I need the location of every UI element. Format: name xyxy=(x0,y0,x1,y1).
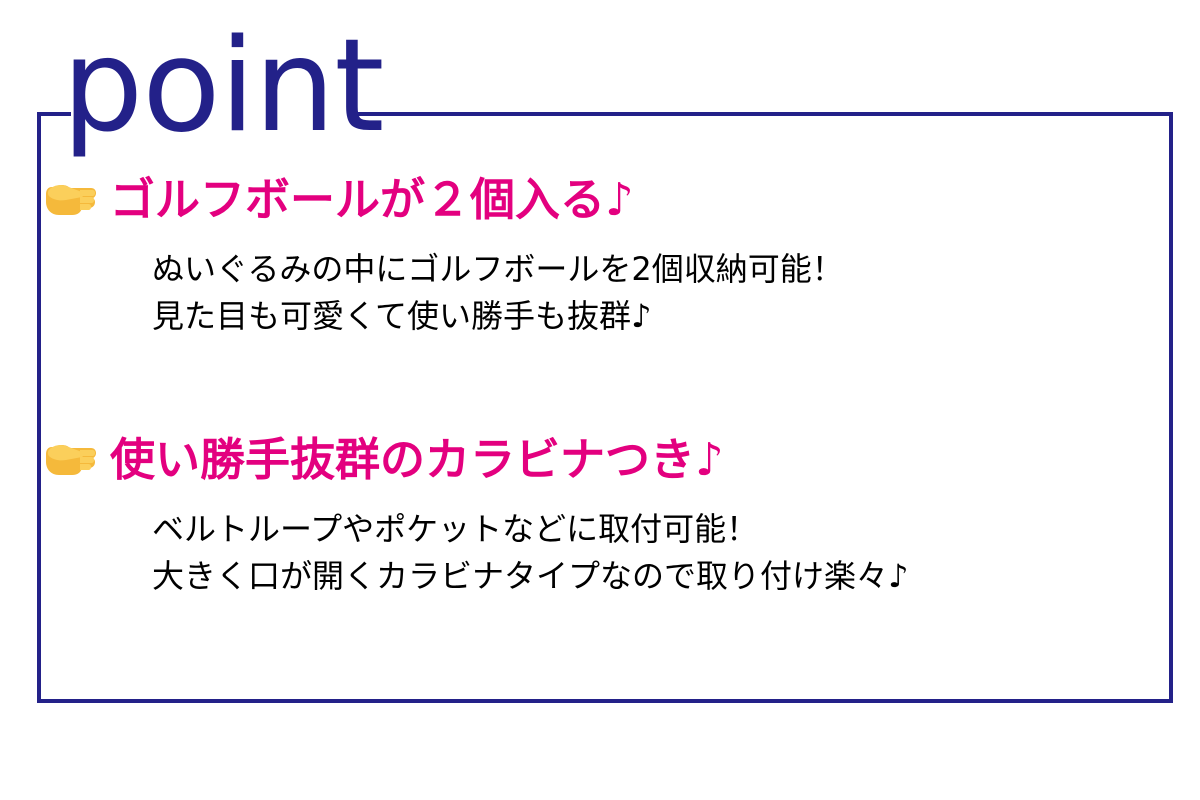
frame-border-top xyxy=(351,112,1173,116)
point-item-1-heading-row: ゴルフボールが２個入る♪ xyxy=(46,172,844,228)
body-line: 大きく口が開くカラビナタイプなので取り付け楽々♪ xyxy=(152,553,908,600)
frame-border-right xyxy=(1169,112,1173,703)
point-item-2-heading: 使い勝手抜群のカラビナつき♪ xyxy=(110,432,724,488)
body-line: 見た目も可愛くて使い勝手も抜群♪ xyxy=(152,293,844,340)
point-panel: point ゴルフボールが２個入る♪ ぬいぐるみの中にゴルフボールを2個収納可能… xyxy=(0,0,1200,800)
pointing-right-hand-icon xyxy=(46,174,110,226)
page-title: point xyxy=(62,23,383,151)
point-item-1: ゴルフボールが２個入る♪ ぬいぐるみの中にゴルフボールを2個収納可能！ 見た目も… xyxy=(46,172,844,340)
pointing-right-hand-icon xyxy=(46,434,110,486)
point-item-2-body: ベルトループやポケットなどに取付可能！ 大きく口が開くカラビナタイプなので取り付… xyxy=(152,506,908,600)
body-line: ベルトループやポケットなどに取付可能！ xyxy=(152,506,908,553)
frame-border-left xyxy=(37,112,41,703)
point-item-2-heading-row: 使い勝手抜群のカラビナつき♪ xyxy=(46,432,908,488)
point-item-2: 使い勝手抜群のカラビナつき♪ ベルトループやポケットなどに取付可能！ 大きく口が… xyxy=(46,432,908,600)
point-item-1-heading: ゴルフボールが２個入る♪ xyxy=(110,172,634,228)
frame-border-bottom xyxy=(37,699,1173,703)
body-line: ぬいぐるみの中にゴルフボールを2個収納可能！ xyxy=(152,246,844,293)
point-item-1-body: ぬいぐるみの中にゴルフボールを2個収納可能！ 見た目も可愛くて使い勝手も抜群♪ xyxy=(152,246,844,340)
